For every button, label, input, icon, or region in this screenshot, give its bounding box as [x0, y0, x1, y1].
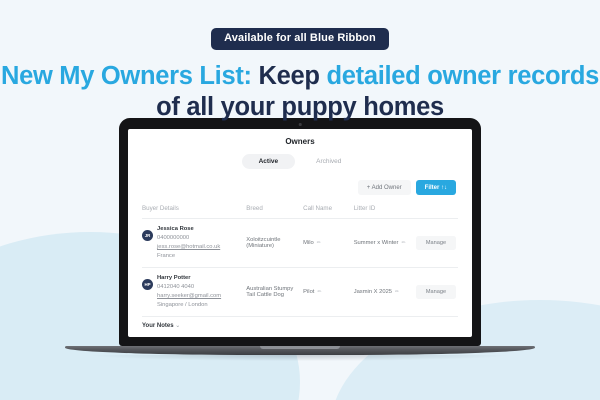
- cell-call-name: Pilot ✏: [303, 267, 354, 316]
- add-owner-button[interactable]: + Add Owner: [358, 180, 411, 195]
- buyer-block: JR Jessica Rose 0400000000 jess.rose@hot…: [142, 225, 244, 261]
- filter-button[interactable]: Filter ↑↓: [416, 180, 456, 195]
- buyer-email-link[interactable]: harry.seeker@gmail.com: [157, 292, 221, 301]
- buyer-name: Jessica Rose: [157, 225, 220, 234]
- litter-id-value: Jasmin X 2025: [354, 289, 392, 295]
- pencil-icon[interactable]: ✏: [317, 240, 321, 246]
- manage-button[interactable]: Manage: [416, 236, 456, 250]
- laptop-base-notch: [260, 346, 340, 349]
- cell-litter-id: Jasmin X 2025 ✏: [354, 267, 414, 316]
- avatar: JR: [142, 230, 153, 241]
- table-row[interactable]: JR Jessica Rose 0400000000 jess.rose@hot…: [142, 219, 458, 268]
- buyer-block: HP Harry Potter 0412040 4040 harry.seeke…: [142, 274, 244, 310]
- buyer-lines: Harry Potter 0412040 4040 harry.seeker@g…: [157, 274, 221, 310]
- laptop-lid: Owners Active Archived + Add Owner Filte…: [119, 118, 481, 346]
- cell-call-name: Milo ✏: [303, 219, 354, 268]
- your-notes-label: Your Notes: [142, 323, 174, 329]
- your-notes-toggle[interactable]: Your Notes ⌄: [142, 317, 458, 329]
- headline-part-1: New My Owners List:: [1, 62, 252, 90]
- buyer-email-link[interactable]: jess.rose@hotmail.co.uk: [157, 243, 220, 252]
- buyer-location: Singapore / London: [157, 301, 221, 310]
- promo-header: Available for all Blue Ribbon New My Own…: [0, 0, 600, 124]
- litter-id-value: Summer x Winter: [354, 240, 399, 246]
- call-name-value: Milo: [303, 240, 314, 246]
- litter-id-editable[interactable]: Jasmin X 2025 ✏: [354, 289, 400, 295]
- column-actions: [414, 205, 458, 219]
- action-bar: + Add Owner Filter ↑↓: [142, 180, 458, 195]
- buyer-phone: 0412040 4040: [157, 283, 221, 292]
- call-name-editable[interactable]: Pilot ✏: [303, 289, 321, 295]
- pencil-icon[interactable]: ✏: [401, 240, 405, 246]
- owners-table: Buyer Details Breed Call Name Litter ID: [142, 205, 458, 317]
- column-breed: Breed: [246, 205, 303, 219]
- litter-id-editable[interactable]: Summer x Winter ✏: [354, 240, 406, 246]
- buyer-lines: Jessica Rose 0400000000 jess.rose@hotmai…: [157, 225, 220, 261]
- laptop-base: [65, 346, 535, 360]
- table-header-row: Buyer Details Breed Call Name Litter ID: [142, 205, 458, 219]
- manage-button[interactable]: Manage: [416, 285, 456, 299]
- avatar: HP: [142, 279, 153, 290]
- buyer-phone: 0400000000: [157, 234, 220, 243]
- owners-app: Owners Active Archived + Add Owner Filte…: [128, 129, 472, 337]
- tab-archived[interactable]: Archived: [299, 154, 358, 169]
- cell-actions: Manage: [414, 219, 458, 268]
- availability-badge: Available for all Blue Ribbon: [211, 28, 389, 50]
- pencil-icon[interactable]: ✏: [317, 289, 321, 295]
- call-name-editable[interactable]: Milo ✏: [303, 240, 321, 246]
- headline-part-2: Keep: [252, 62, 327, 90]
- pencil-icon[interactable]: ✏: [395, 289, 399, 295]
- buyer-location: France: [157, 252, 220, 261]
- cell-buyer-details: JR Jessica Rose 0400000000 jess.rose@hot…: [142, 219, 246, 268]
- cell-litter-id: Summer x Winter ✏: [354, 219, 414, 268]
- column-buyer-details: Buyer Details: [142, 205, 246, 219]
- cell-actions: Manage: [414, 267, 458, 316]
- call-name-value: Pilot: [303, 289, 314, 295]
- laptop-base-body: [65, 346, 535, 355]
- tab-active[interactable]: Active: [242, 154, 296, 169]
- cell-buyer-details: HP Harry Potter 0412040 4040 harry.seeke…: [142, 267, 246, 316]
- cell-breed: Australian Stumpy Tail Cattle Dog: [246, 267, 303, 316]
- headline-part-3: detailed owner records: [326, 62, 599, 90]
- buyer-name: Harry Potter: [157, 274, 221, 283]
- tab-bar: Active Archived: [142, 154, 458, 169]
- cell-breed: Xoloitzcuintle (Miniature): [246, 219, 303, 268]
- table-row[interactable]: HP Harry Potter 0412040 4040 harry.seeke…: [142, 267, 458, 316]
- column-call-name: Call Name: [303, 205, 354, 219]
- laptop-mockup: Owners Active Archived + Add Owner Filte…: [119, 118, 481, 360]
- column-litter-id: Litter ID: [354, 205, 414, 219]
- page-title: New My Owners List: Keep detailed owner …: [0, 61, 600, 124]
- app-title: Owners: [142, 137, 458, 146]
- laptop-base-shadow: [93, 355, 507, 361]
- headline-part-4: of all your puppy homes: [156, 93, 444, 121]
- chevron-down-icon: ⌄: [175, 323, 180, 329]
- promo-canvas: Available for all Blue Ribbon New My Own…: [0, 0, 600, 400]
- laptop-screen: Owners Active Archived + Add Owner Filte…: [128, 129, 472, 337]
